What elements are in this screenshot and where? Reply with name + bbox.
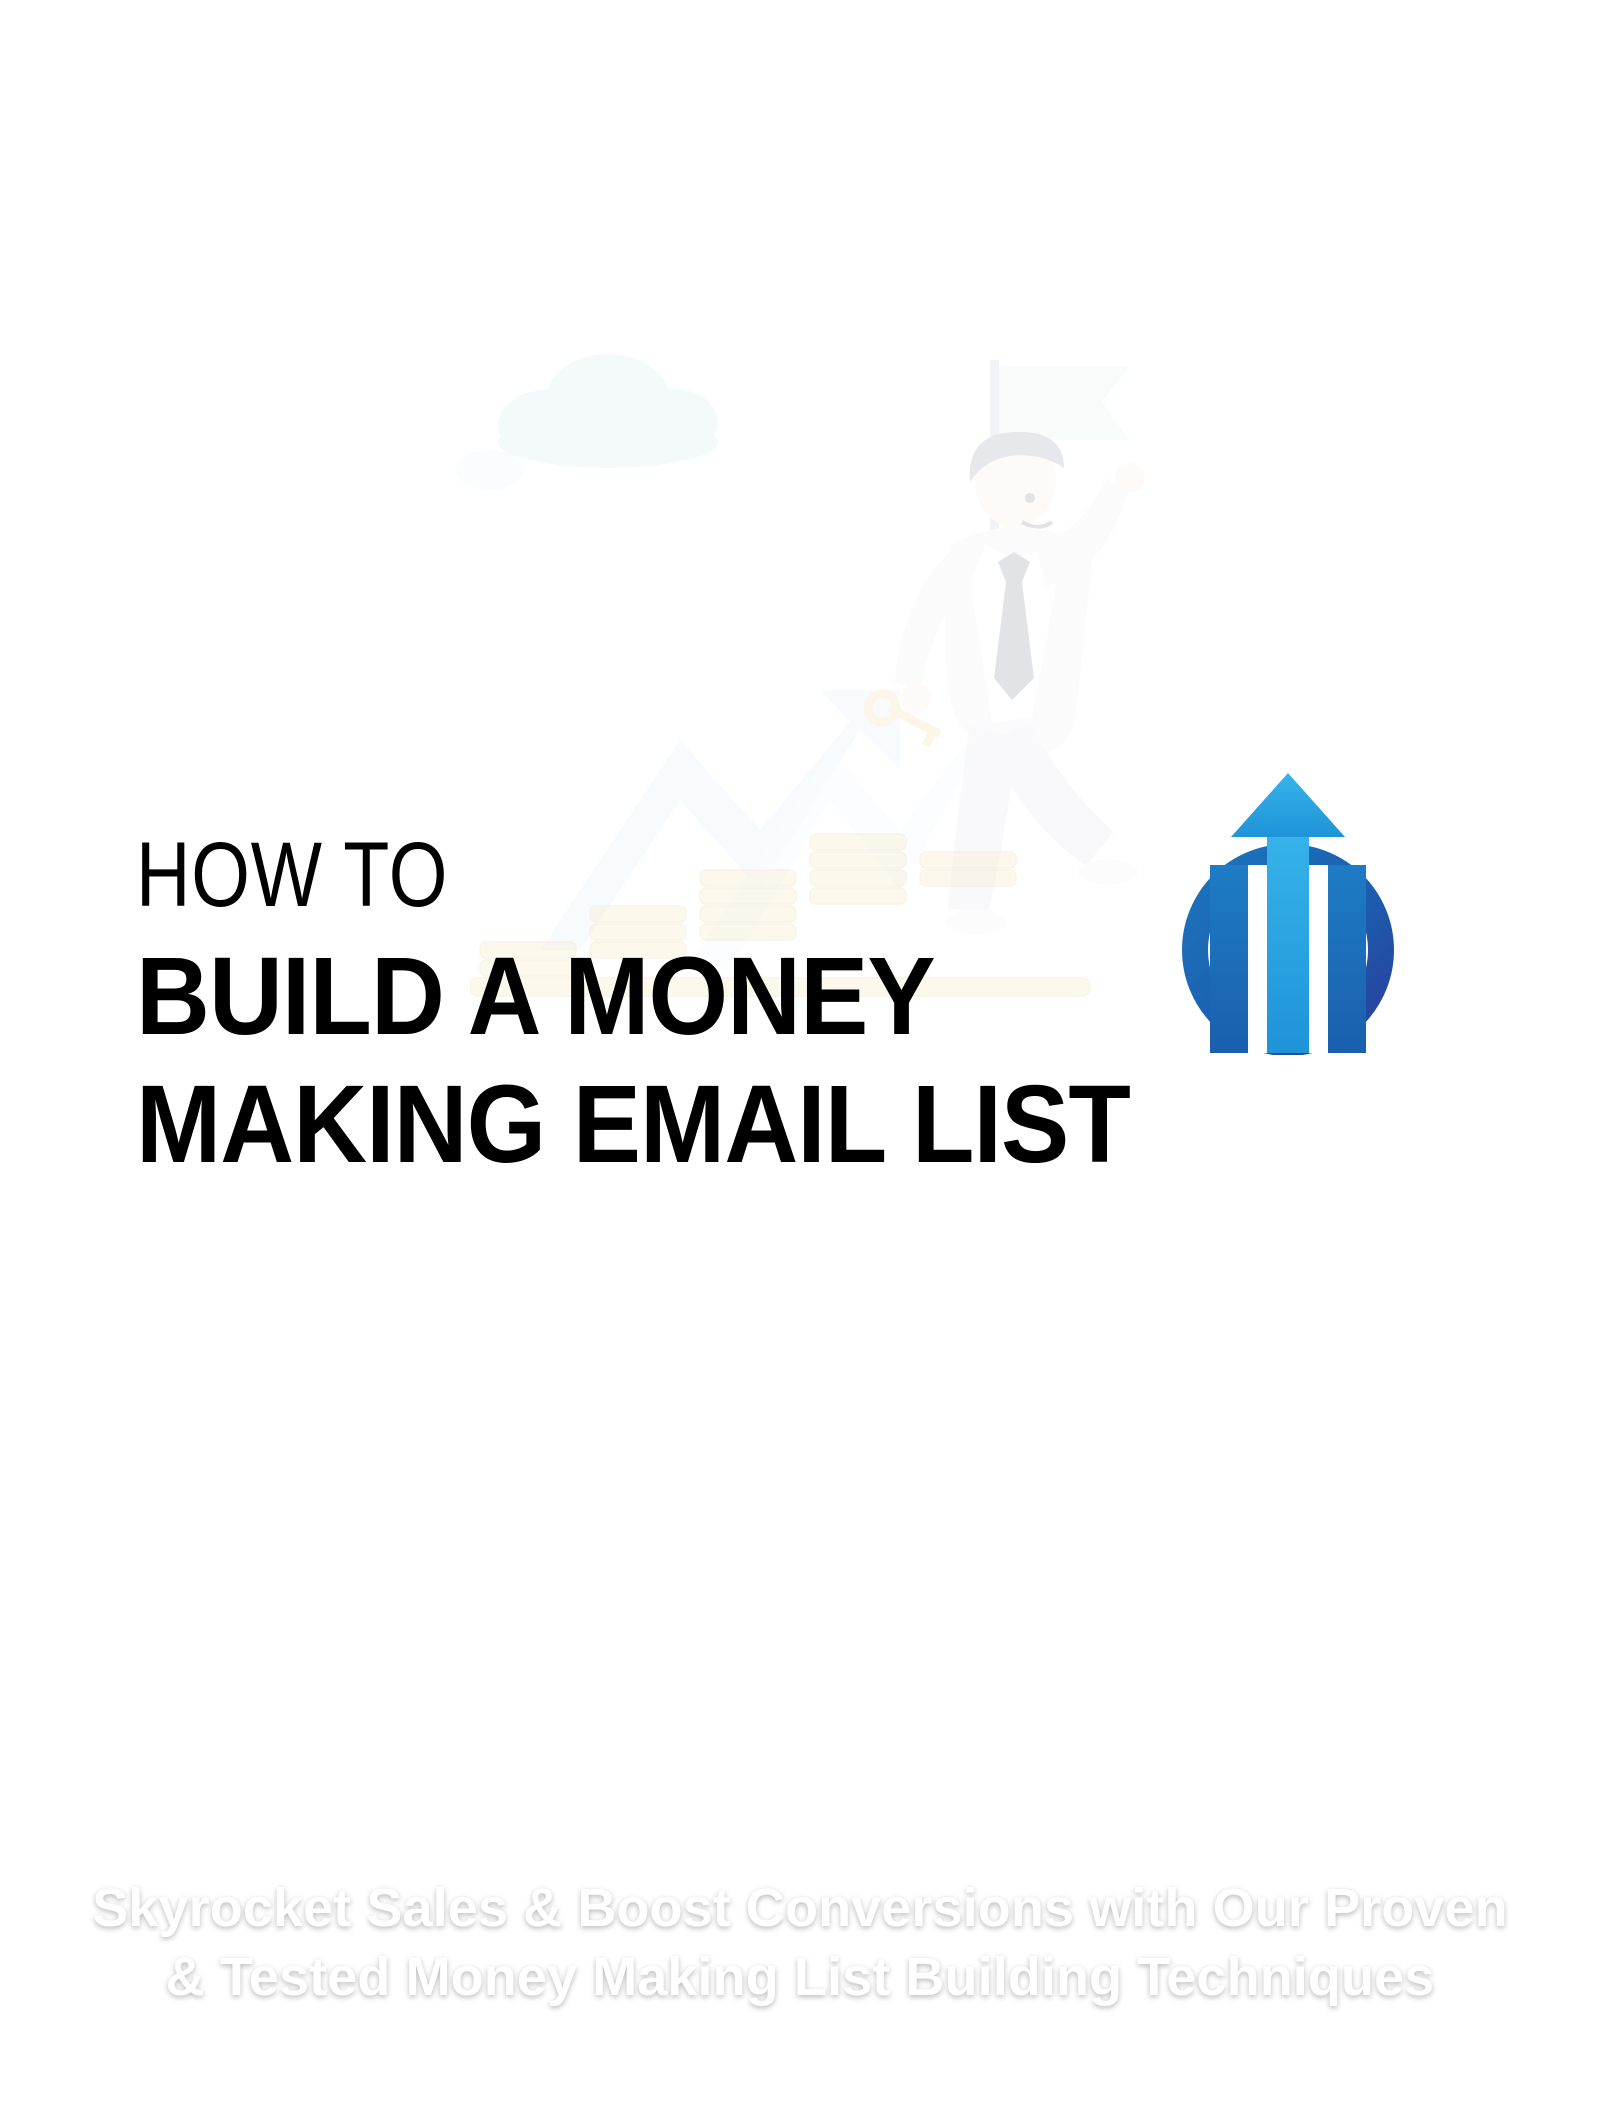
page-kicker-training-guide: Training Guide xyxy=(68,58,533,131)
title-headline: BUILD A MONEY MAKING EMAIL LIST xyxy=(136,933,1066,1188)
book-cover: Training Guide HOW TO BUILD A MONEY MAKI… xyxy=(0,0,1600,2124)
title-line-2: MAKING EMAIL LIST xyxy=(136,1061,1066,1189)
subtitle-line-1: Skyrocket Sales & Boost Conversions with… xyxy=(60,1874,1540,1943)
title-line-1: BUILD A MONEY xyxy=(136,935,935,1058)
cover-subtitle: Skyrocket Sales & Boost Conversions with… xyxy=(0,1874,1600,2012)
subtitle-line-2: & Tested Money Making List Building Tech… xyxy=(60,1943,1540,2012)
growth-chart-arrow-logo-icon xyxy=(1163,765,1413,1055)
title-block: HOW TO BUILD A MONEY MAKING EMAIL LIST xyxy=(136,832,1136,1189)
title-kicker: HOW TO xyxy=(136,832,956,919)
